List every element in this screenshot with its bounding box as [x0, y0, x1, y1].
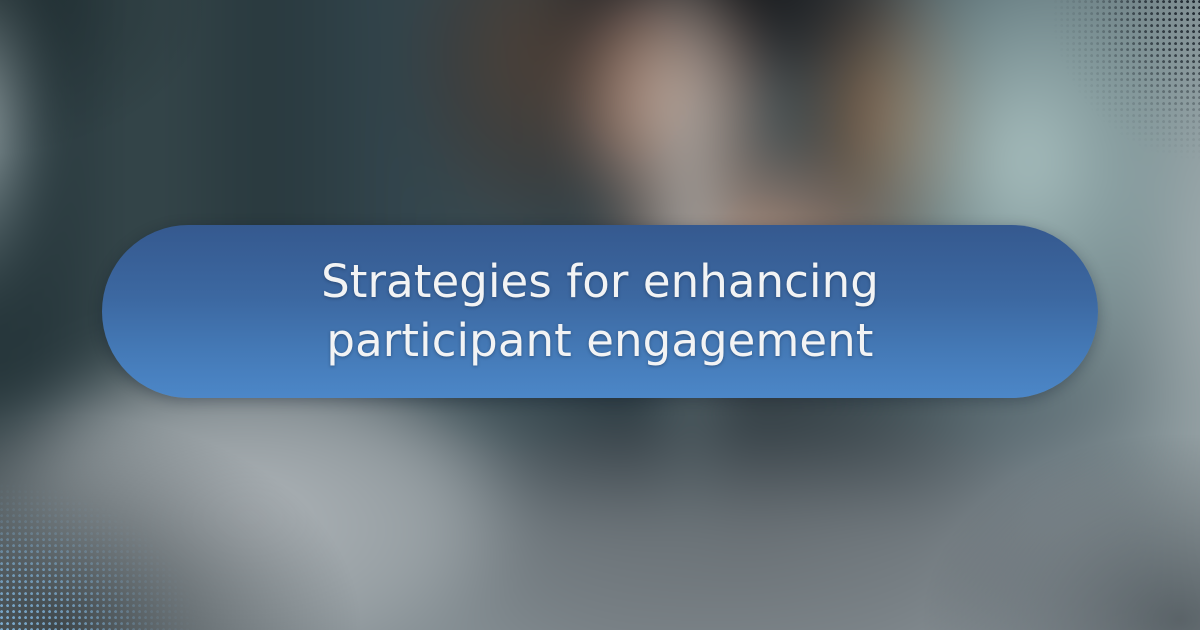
- title-banner: Strategies for enhancing participant eng…: [102, 225, 1098, 398]
- page-title: Strategies for enhancing participant eng…: [321, 253, 879, 370]
- social-card: Strategies for enhancing participant eng…: [0, 0, 1200, 630]
